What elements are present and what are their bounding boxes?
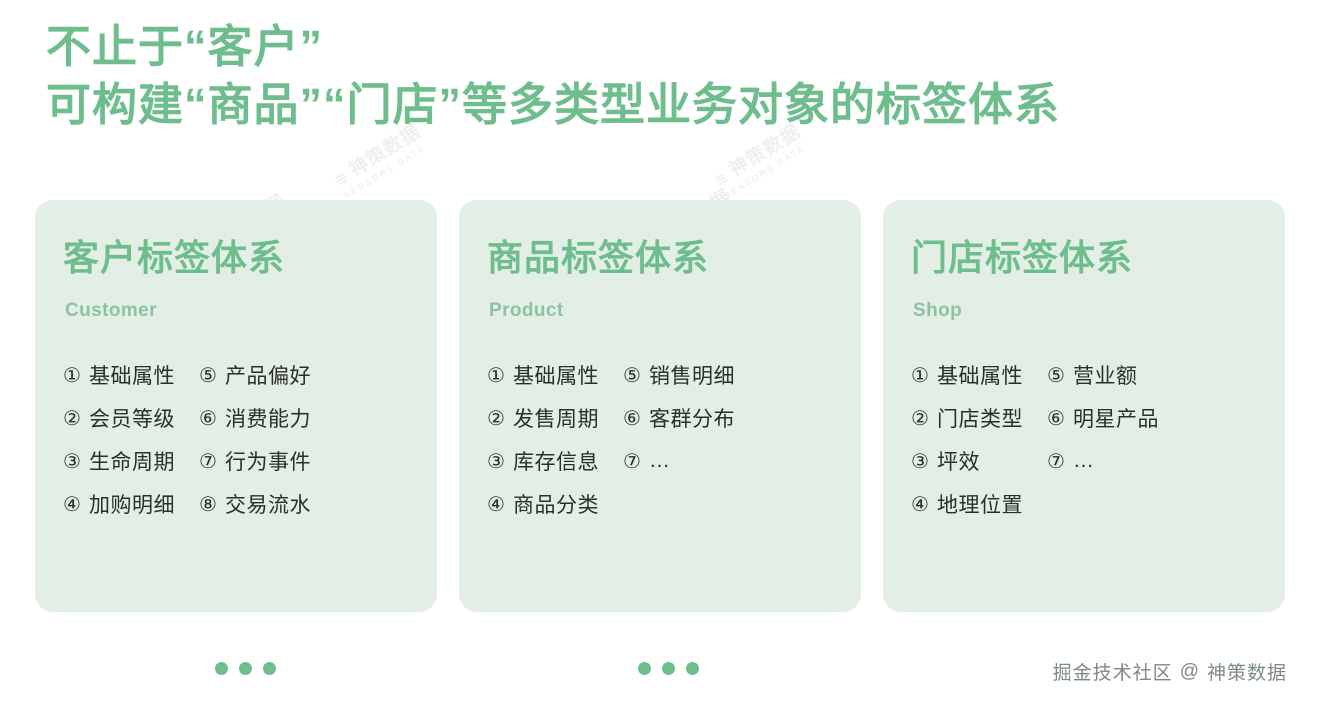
watermark-en-text: SENSORS DATA (342, 141, 431, 202)
list-item[interactable]: ⑤销售明细 (623, 354, 735, 397)
footer-branding: 掘金技术社区 @ 神策数据 (1053, 658, 1287, 685)
list-item[interactable]: ①基础属性 (63, 354, 175, 397)
list-item-label: 产品偏好 (225, 360, 311, 390)
list-item-label: 门店类型 (937, 403, 1023, 433)
card-item-list: ①基础属性 ②会员等级 ③生命周期 ④加购明细 ⑤产品偏好 ⑥消费能力 ⑦行为事… (63, 354, 409, 526)
watermark-en-text: SENSORS DATA (722, 141, 811, 202)
pagination-dots-right[interactable] (638, 662, 699, 675)
card-title: 商品标签体系 (487, 238, 833, 278)
list-item[interactable]: ⑦… (1047, 440, 1159, 483)
page-title-line-1: 不止于“客户” (46, 18, 1060, 76)
card-subtitle: Customer (65, 300, 409, 322)
list-item-number: ⑤ (1047, 365, 1073, 385)
dot-icon[interactable] (263, 662, 276, 675)
list-item-number: ⑥ (1047, 408, 1073, 428)
list-item-number: ⑦ (199, 451, 225, 471)
list-item-label: 发售周期 (513, 403, 599, 433)
brand-company-label: 神策数据 (1207, 658, 1287, 685)
card-title: 客户标签体系 (63, 238, 409, 278)
list-item[interactable]: ②门店类型 (911, 397, 1023, 440)
list-item-number: ⑤ (623, 365, 649, 385)
list-item-number: ⑧ (199, 494, 225, 514)
list-item-label: 生命周期 (89, 446, 175, 476)
list-item[interactable]: ④商品分类 (487, 483, 599, 526)
list-item-number: ④ (487, 494, 513, 514)
list-item-label: 营业额 (1073, 360, 1138, 390)
list-item[interactable]: ①基础属性 (487, 354, 599, 397)
list-item[interactable]: ③坪效 (911, 440, 1023, 483)
list-item[interactable]: ⑦行为事件 (199, 440, 311, 483)
list-item-empty (623, 483, 735, 526)
list-item[interactable]: ⑧交易流水 (199, 483, 311, 526)
list-item-number: ② (911, 408, 937, 428)
watermark-logo-icon: ≋ (331, 166, 354, 191)
list-item-empty (1047, 483, 1159, 526)
list-item[interactable]: ④地理位置 (911, 483, 1023, 526)
list-item-label: … (1073, 449, 1096, 473)
list-item[interactable]: ②发售周期 (487, 397, 599, 440)
list-item[interactable]: ③库存信息 (487, 440, 599, 483)
page-title-line-2: 可构建“商品”“门店”等多类型业务对象的标签体系 (46, 76, 1060, 134)
list-item-label: 坪效 (937, 446, 980, 476)
page-title: 不止于“客户” 可构建“商品”“门店”等多类型业务对象的标签体系 (46, 18, 1060, 133)
list-item-label: 加购明细 (89, 489, 175, 519)
card-subtitle: Shop (913, 300, 1257, 322)
list-item-label: 基础属性 (89, 360, 175, 390)
card-customer-tag-system[interactable]: 客户标签体系 Customer ①基础属性 ②会员等级 ③生命周期 ④加购明细 … (35, 200, 437, 612)
list-item-number: ③ (487, 451, 513, 471)
dot-icon[interactable] (662, 662, 675, 675)
list-item-label: 商品分类 (513, 489, 599, 519)
list-item-label: 基础属性 (513, 360, 599, 390)
list-item-number: ① (63, 365, 89, 385)
list-item-number: ③ (63, 451, 89, 471)
list-item-label: 消费能力 (225, 403, 311, 433)
list-item-number: ⑦ (1047, 451, 1073, 471)
card-item-list: ①基础属性 ②门店类型 ③坪效 ④地理位置 ⑤营业额 ⑥明星产品 ⑦… (911, 354, 1257, 526)
list-item-number: ② (63, 408, 89, 428)
list-item[interactable]: ④加购明细 (63, 483, 175, 526)
list-item[interactable]: ⑥消费能力 (199, 397, 311, 440)
list-item-label: 基础属性 (937, 360, 1023, 390)
list-item-label: 库存信息 (513, 446, 599, 476)
list-item-label: 会员等级 (89, 403, 175, 433)
list-item[interactable]: ①基础属性 (911, 354, 1023, 397)
list-item-label: 地理位置 (937, 489, 1023, 519)
list-item-label: 客群分布 (649, 403, 735, 433)
list-item-label: 行为事件 (225, 446, 311, 476)
card-title: 门店标签体系 (911, 238, 1257, 278)
card-group: 客户标签体系 Customer ①基础属性 ②会员等级 ③生命周期 ④加购明细 … (35, 200, 1285, 612)
watermark-logo-icon: ≋ (711, 166, 734, 191)
list-item-label: 交易流水 (225, 489, 311, 519)
dot-icon[interactable] (686, 662, 699, 675)
brand-community-label: 掘金技术社区 (1053, 658, 1173, 685)
list-item[interactable]: ⑤营业额 (1047, 354, 1159, 397)
list-item[interactable]: ③生命周期 (63, 440, 175, 483)
list-item-number: ① (487, 365, 513, 385)
list-item[interactable]: ⑥明星产品 (1047, 397, 1159, 440)
list-item[interactable]: ⑤产品偏好 (199, 354, 311, 397)
dot-icon[interactable] (239, 662, 252, 675)
card-item-list: ①基础属性 ②发售周期 ③库存信息 ④商品分类 ⑤销售明细 ⑥客群分布 ⑦… (487, 354, 833, 526)
dot-icon[interactable] (215, 662, 228, 675)
list-item-number: ④ (63, 494, 89, 514)
card-product-tag-system[interactable]: 商品标签体系 Product ①基础属性 ②发售周期 ③库存信息 ④商品分类 ⑤… (459, 200, 861, 612)
list-item-number: ⑦ (623, 451, 649, 471)
list-item-number: ⑥ (199, 408, 225, 428)
list-item-number: ⑥ (623, 408, 649, 428)
list-item-number: ③ (911, 451, 937, 471)
list-item-number: ② (487, 408, 513, 428)
pagination-dots-left[interactable] (215, 662, 276, 675)
list-item[interactable]: ⑥客群分布 (623, 397, 735, 440)
list-item-label: 明星产品 (1073, 403, 1159, 433)
list-item[interactable]: ②会员等级 (63, 397, 175, 440)
list-item-number: ⑤ (199, 365, 225, 385)
card-shop-tag-system[interactable]: 门店标签体系 Shop ①基础属性 ②门店类型 ③坪效 ④地理位置 ⑤营业额 ⑥… (883, 200, 1285, 612)
list-item-label: … (649, 449, 672, 473)
at-symbol-icon: @ (1180, 661, 1200, 683)
card-subtitle: Product (489, 300, 833, 322)
list-item-number: ① (911, 365, 937, 385)
dot-icon[interactable] (638, 662, 651, 675)
list-item-number: ④ (911, 494, 937, 514)
list-item[interactable]: ⑦… (623, 440, 735, 483)
list-item-label: 销售明细 (649, 360, 735, 390)
